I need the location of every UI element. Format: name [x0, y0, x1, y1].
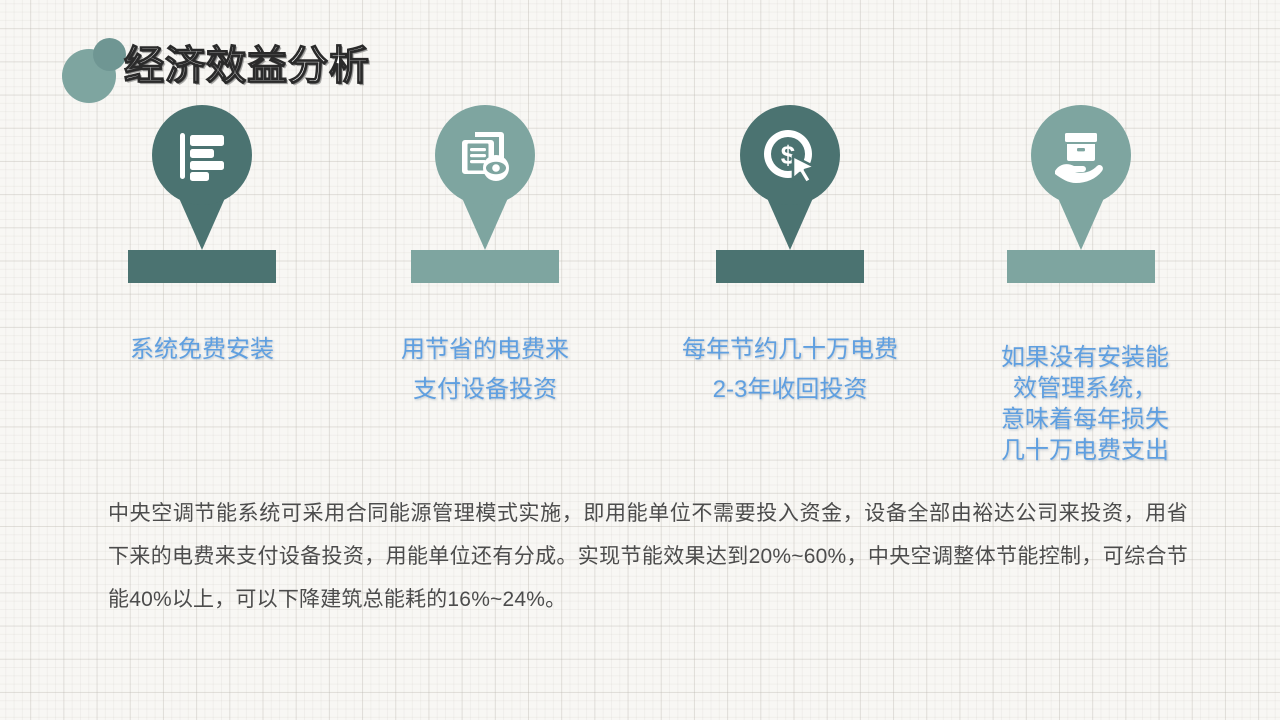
documents-eye-icon — [456, 127, 514, 185]
pin-row: $ — [0, 0, 1280, 300]
pin-caption-3: 每年节约几十万电费 2-3年收回投资 — [645, 330, 935, 410]
body-paragraph: 中央空调节能系统可采用合同能源管理模式实施，即用能单位不需要投入资金，设备全部由… — [108, 492, 1188, 621]
pin-item-3[interactable]: $ — [700, 105, 880, 290]
pin-item-4[interactable] — [991, 105, 1171, 290]
dollar-coin-cursor-icon: $ — [761, 127, 819, 185]
document-list-icon — [173, 127, 231, 185]
pin-base-1 — [128, 250, 276, 283]
pin-item-2[interactable] — [395, 105, 575, 290]
pin-base-3 — [716, 250, 864, 283]
pin-caption-1: 系统免费安装 — [62, 330, 342, 370]
pin-item-1[interactable] — [112, 105, 292, 290]
pin-caption-4: 如果没有安装能 效管理系统， 意味着每年损失 几十万电费支出 — [960, 342, 1210, 466]
pin-base-2 — [411, 250, 559, 283]
hand-holding-box-icon — [1052, 127, 1110, 185]
pin-base-4 — [1007, 250, 1155, 283]
pin-caption-2: 用节省的电费来 支付设备投资 — [345, 330, 625, 410]
slide-canvas: 经济效益分析 — [0, 0, 1280, 720]
